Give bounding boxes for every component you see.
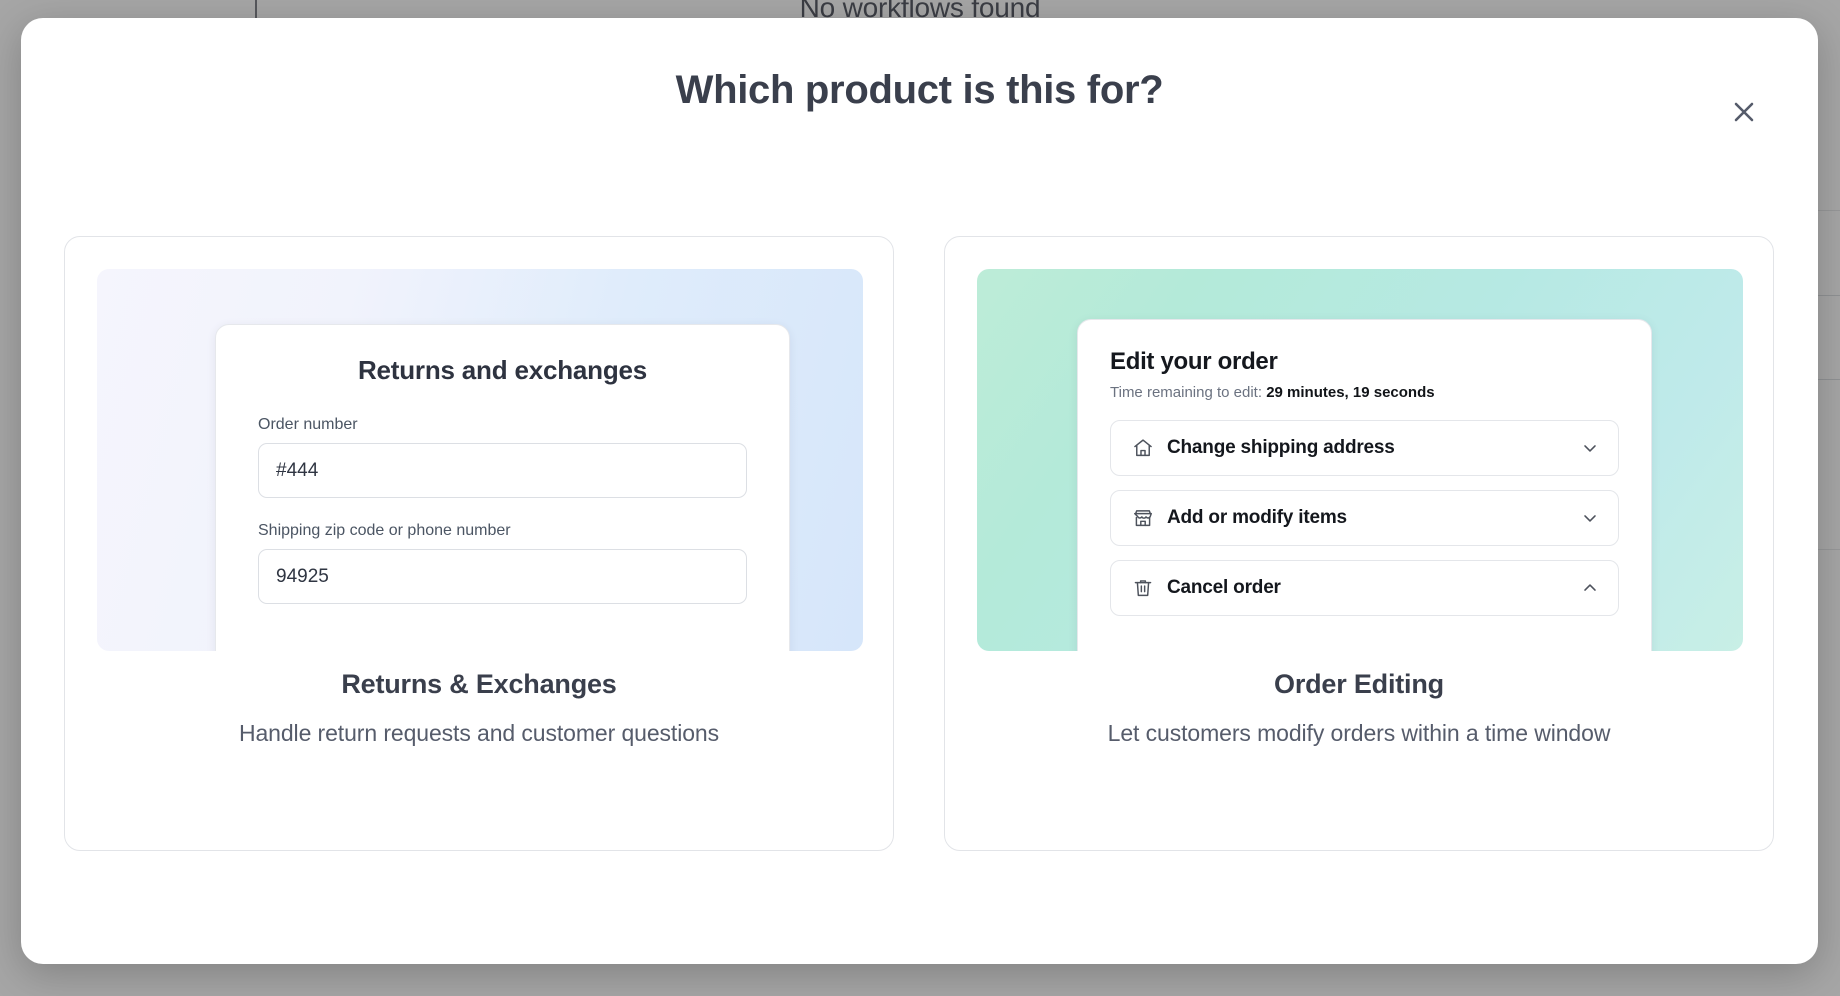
time-remaining-label: Time remaining to edit: — [1110, 384, 1262, 401]
page-root: No workflows found Which product is this… — [0, 0, 1840, 996]
store-icon — [1131, 506, 1155, 530]
preview-order-editing: Edit your order Time remaining to edit: … — [977, 269, 1743, 651]
order-edit-row-cancel-order[interactable]: Cancel order — [1110, 560, 1619, 616]
close-button[interactable] — [1724, 92, 1764, 132]
mock-order-heading: Edit your order — [1110, 348, 1619, 376]
order-edit-row-change-shipping-address[interactable]: Change shipping address — [1110, 420, 1619, 476]
time-remaining-row: Time remaining to edit: 29 minutes, 19 s… — [1110, 384, 1619, 401]
close-icon — [1731, 99, 1757, 125]
product-option-returns-exchanges[interactable]: Returns and exchanges Order number #444 … — [64, 236, 894, 851]
mock-returns-heading: Returns and exchanges — [258, 355, 747, 386]
product-option-order-editing[interactable]: Edit your order Time remaining to edit: … — [944, 236, 1774, 851]
order-edit-row-add-modify-items[interactable]: Add or modify items — [1110, 490, 1619, 546]
order-edit-row-label: Add or modify items — [1167, 507, 1579, 529]
chevron-up-icon[interactable] — [1579, 577, 1601, 599]
order-edit-row-label: Change shipping address — [1167, 437, 1579, 459]
time-remaining-value: 29 minutes, 19 seconds — [1266, 384, 1434, 401]
product-option-title: Returns & Exchanges — [65, 669, 893, 700]
chevron-down-icon[interactable] — [1579, 507, 1601, 529]
modal-header: Which product is this for? — [21, 18, 1818, 156]
product-option-title: Order Editing — [945, 669, 1773, 700]
shipping-zip-label: Shipping zip code or phone number — [258, 522, 747, 540]
trash-icon — [1131, 576, 1155, 600]
preview-returns-exchanges: Returns and exchanges Order number #444 … — [97, 269, 863, 651]
order-number-input[interactable]: #444 — [258, 443, 747, 498]
order-edit-row-label: Cancel order — [1167, 577, 1579, 599]
shipping-zip-input[interactable]: 94925 — [258, 549, 747, 604]
product-option-description: Handle return requests and customer ques… — [65, 720, 893, 747]
order-number-label: Order number — [258, 416, 747, 434]
mock-order-edit-panel: Edit your order Time remaining to edit: … — [1077, 319, 1652, 651]
product-options-list: Returns and exchanges Order number #444 … — [64, 236, 1775, 851]
mock-returns-form: Returns and exchanges Order number #444 … — [215, 324, 790, 651]
home-icon — [1131, 436, 1155, 460]
product-option-description: Let customers modify orders within a tim… — [945, 720, 1773, 747]
page-title: Which product is this for? — [21, 68, 1818, 113]
product-picker-modal: Which product is this for? Returns and e… — [21, 18, 1818, 964]
chevron-down-icon[interactable] — [1579, 437, 1601, 459]
